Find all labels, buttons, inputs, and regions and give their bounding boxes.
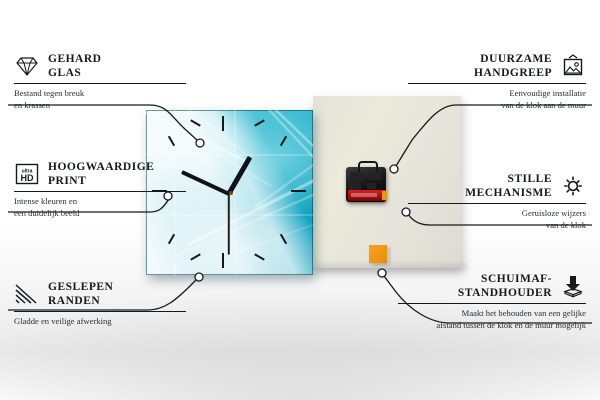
callout-title-line1: SCHUIMAF- — [458, 272, 552, 286]
movement-hanger-icon — [358, 161, 378, 172]
callout-title-line1: GESLEPEN — [48, 280, 113, 294]
callout-title-line1: STILLE — [465, 172, 552, 186]
callout-title-line1: DUURZAME — [474, 52, 552, 66]
callout-title-line2: STANDHOUDER — [458, 286, 552, 300]
callout-sub-line1: Eenvoudige installatie — [408, 88, 586, 100]
callout-sub-line2: van de klok — [408, 220, 586, 232]
foam-spacer-pad — [369, 245, 387, 263]
clock-battery — [348, 190, 386, 201]
callout-sub-line2: een duidelijk beeld — [14, 208, 192, 220]
callout-sub-line2: en krassen — [14, 100, 192, 112]
clock-hand-pivot — [229, 191, 233, 195]
callout-sub-line1: Bestand tegen breuk — [14, 88, 192, 100]
callout-sub-line1: Intense kleuren en — [14, 196, 192, 208]
callout-stille-mechanisme[interactable]: STILLE MECHANISME Geruisloze wijzers van… — [408, 172, 586, 231]
callout-sub-line1: Maakt het behouden van een gelijke — [398, 308, 586, 320]
svg-text:HD: HD — [21, 173, 34, 183]
callout-title-line2: RANDEN — [48, 294, 113, 308]
diamond-icon — [14, 54, 40, 78]
gear-icon — [560, 174, 586, 198]
callout-title-line1: HOOGWAARDIGE — [48, 160, 154, 174]
picture-frame-icon — [560, 54, 586, 78]
callout-title-line2: MECHANISME — [465, 186, 552, 200]
callout-schuimafstandhouder[interactable]: SCHUIMAF- STANDHOUDER Maakt het behouden… — [398, 272, 586, 331]
ultra-hd-icon: ultra HD — [14, 162, 40, 186]
foam-spacer-icon — [560, 274, 586, 298]
callout-sub-line1: Gladde en veilige afwerking — [14, 316, 192, 328]
callout-title-line2: PRINT — [48, 174, 154, 188]
callout-title-line2: GLAS — [48, 66, 101, 80]
callout-gehard-glas[interactable]: GEHARD GLAS Bestand tegen breuk en krass… — [14, 52, 192, 111]
callout-duurzame-handgreep[interactable]: DUURZAME HANDGREEP Eenvoudige installati… — [408, 52, 586, 111]
bevelled-edge-icon — [14, 282, 40, 306]
callout-hoogwaardige-print[interactable]: ultra HD HOOGWAARDIGE PRINT Intense kleu… — [14, 160, 192, 219]
callout-sub-line2: afstand tussen de klok en de muur mogeli… — [398, 320, 586, 332]
callout-sub-line2: van de klok aan de muur — [408, 100, 586, 112]
clock-second-hand — [228, 193, 230, 255]
callout-title-line1: GEHARD — [48, 52, 101, 66]
callout-title-line2: HANDGREEP — [474, 66, 552, 80]
infographic-stage: GEHARD GLAS Bestand tegen breuk en krass… — [0, 0, 600, 400]
callout-sub-line1: Geruisloze wijzers — [408, 208, 586, 220]
callout-geslepen-randen[interactable]: GESLEPEN RANDEN Gladde en veilige afwerk… — [14, 280, 192, 328]
